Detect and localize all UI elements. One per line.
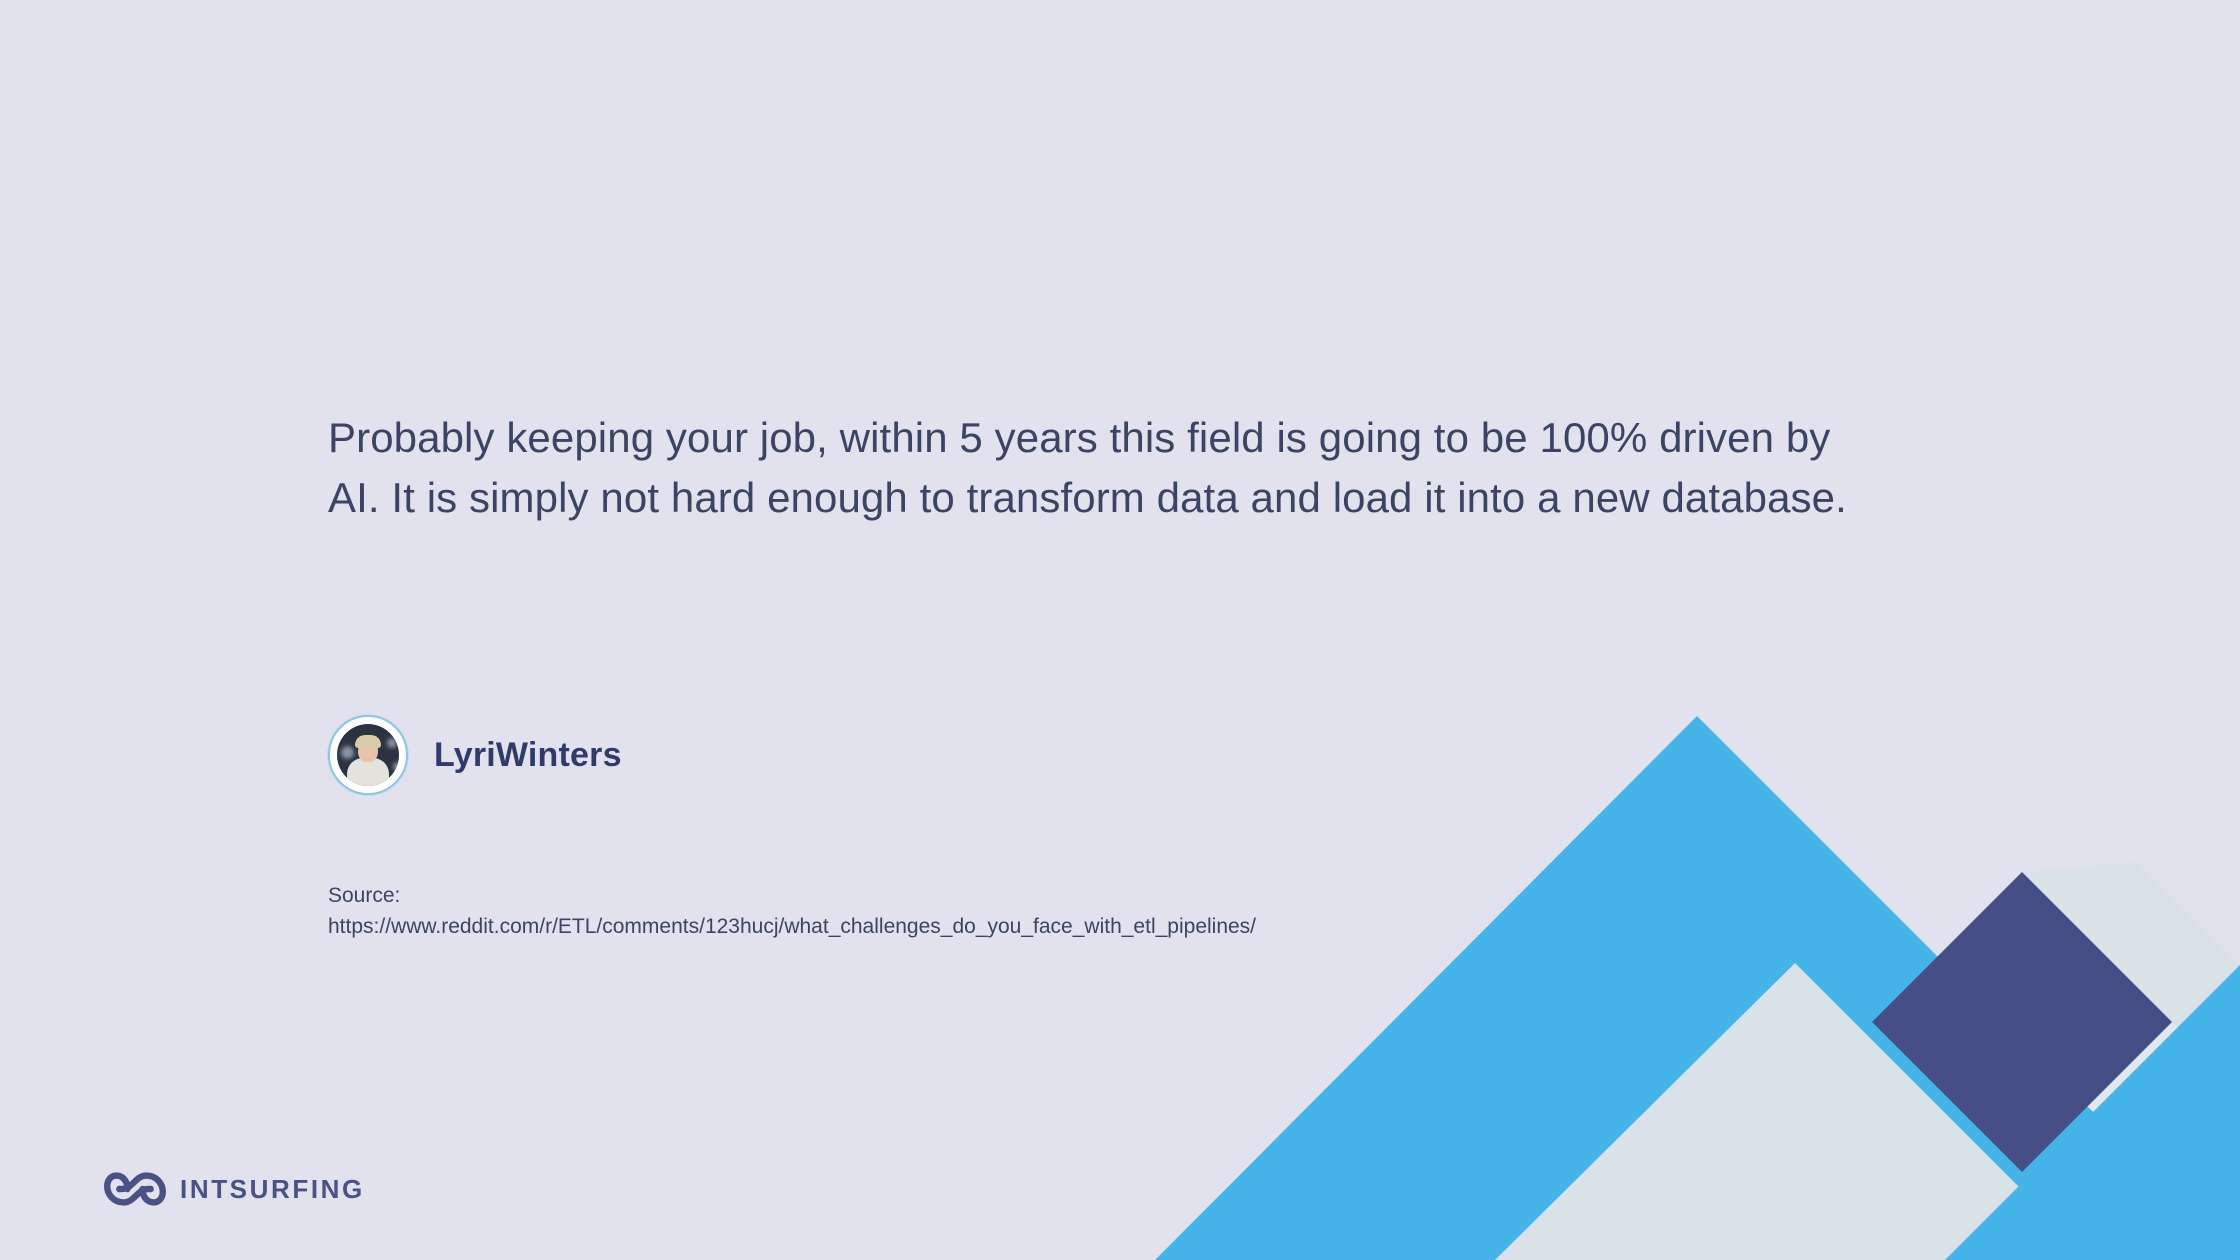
quote-slide: Probably keeping your job, within 5 year… [0, 0, 2240, 1260]
blue-right-wedge-shape [1945, 965, 2240, 1260]
brand-name: INTSURFING [180, 1174, 365, 1205]
infinity-loop-icon [104, 1172, 166, 1206]
light-gray-right-slope-shape [2022, 862, 2240, 1090]
avatar-figure-hair [355, 735, 381, 748]
avatar-bokeh-light [393, 762, 399, 771]
quote-text: Probably keeping your job, within 5 year… [328, 408, 1858, 528]
source-block: Source:https://www.reddit.com/r/ETL/comm… [328, 880, 1403, 942]
avatar-figure-body [347, 758, 389, 786]
avatar-photo [337, 724, 399, 786]
author-row: LyriWinters [328, 715, 622, 795]
brand-logo: INTSURFING [104, 1172, 365, 1206]
avatar-bokeh-light [341, 746, 354, 759]
source-label: Source: [328, 880, 1403, 911]
avatar-bokeh-light [387, 738, 397, 748]
author-name: LyriWinters [434, 736, 622, 775]
source-url[interactable]: https://www.reddit.com/r/ETL/comments/12… [328, 915, 1256, 938]
slide-content: Probably keeping your job, within 5 year… [328, 0, 1888, 1260]
avatar [328, 715, 408, 795]
navy-diamond-shape [1872, 872, 2172, 1172]
